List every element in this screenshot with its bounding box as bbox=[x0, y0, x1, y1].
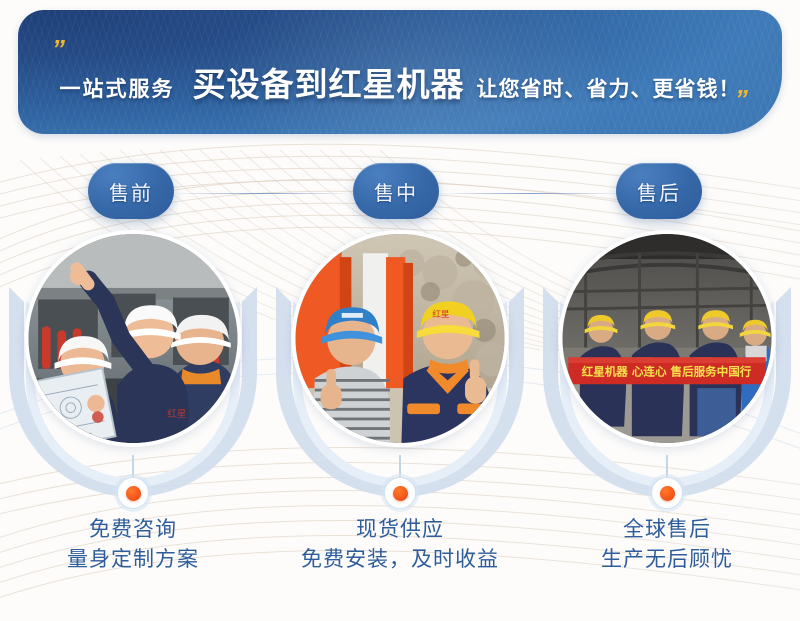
svg-text:红星: 红星 bbox=[432, 308, 450, 319]
orange-dot-icon bbox=[393, 486, 408, 501]
headline-banner-wrap: ” ” 一站式服务 买设备到红星机器 让您省时、省力、更省钱！ bbox=[0, 0, 800, 150]
photo-duringsale-thumbsup: 红星 bbox=[292, 230, 509, 447]
caption-line-1: 现货供应 bbox=[267, 515, 533, 545]
step-pill-label: 售后 bbox=[637, 177, 681, 206]
steps-row: 售前 售中 售后 bbox=[0, 163, 800, 225]
step-pill-aftersale[interactable]: 售后 bbox=[616, 163, 702, 219]
caption-line-2: 生产无后顾忧 bbox=[534, 545, 800, 575]
headline-row: 一站式服务 买设备到红星机器 让您省时、省力、更省钱！ bbox=[18, 58, 782, 106]
headline-main: 买设备到红星机器 bbox=[193, 58, 465, 106]
caption-line-1: 免费咨询 bbox=[0, 515, 266, 545]
headline-lead: 一站式服务 bbox=[60, 73, 175, 103]
svg-text:红星: 红星 bbox=[167, 408, 187, 420]
caption-duringsale: 现货供应 免费安装，及时收益 bbox=[267, 515, 533, 575]
orange-dot-icon bbox=[660, 486, 675, 501]
step-connector-line-1 bbox=[172, 193, 352, 194]
step-connector-line-2 bbox=[438, 193, 624, 194]
photo-aftersale-team-banner: 红星机器 心连心 售后服务中国行 bbox=[559, 230, 776, 447]
banner-content: ” ” 一站式服务 买设备到红星机器 让您省时、省力、更省钱！ bbox=[18, 10, 782, 134]
service-column-presale: 红星 免费咨询 量身定制方案 bbox=[0, 225, 266, 621]
orange-dot-icon bbox=[126, 486, 141, 501]
promo-banner-page: ” ” 一站式服务 买设备到红星机器 让您省时、省力、更省钱！ 售前 售中 售后 bbox=[0, 0, 800, 621]
step-dot-marker bbox=[117, 477, 149, 509]
step-pill-presale[interactable]: 售前 bbox=[88, 163, 174, 219]
step-dot-marker bbox=[651, 477, 683, 509]
headline-tail: 让您省时、省力、更省钱！ bbox=[477, 73, 741, 103]
headline-banner: ” ” 一站式服务 买设备到红星机器 让您省时、省力、更省钱！ bbox=[18, 10, 782, 134]
caption-line-1: 全球售后 bbox=[534, 515, 800, 545]
caption-aftersale: 全球售后 生产无后顾忧 bbox=[534, 515, 800, 575]
caption-presale: 免费咨询 量身定制方案 bbox=[0, 515, 266, 575]
service-column-duringsale: 红星 现货供应 免费安装，及时收益 bbox=[267, 225, 533, 621]
photo-presale-consultation: 红星 bbox=[25, 230, 242, 447]
caption-line-2: 量身定制方案 bbox=[0, 545, 266, 575]
service-columns: 红星 免费咨询 量身定制方案 bbox=[0, 225, 800, 621]
step-pill-duringsale[interactable]: 售中 bbox=[353, 163, 439, 219]
step-pill-label: 售中 bbox=[374, 177, 418, 206]
caption-line-2: 免费安装，及时收益 bbox=[267, 545, 533, 575]
svg-text:红星机器 心连心 售后服务中国行: 红星机器 心连心 售后服务中国行 bbox=[582, 365, 752, 379]
step-pill-label: 售前 bbox=[109, 177, 153, 206]
step-dot-marker bbox=[384, 477, 416, 509]
service-column-aftersale: 红星机器 心连心 售后服务中国行 全球售后 生产无后顾忧 bbox=[534, 225, 800, 621]
